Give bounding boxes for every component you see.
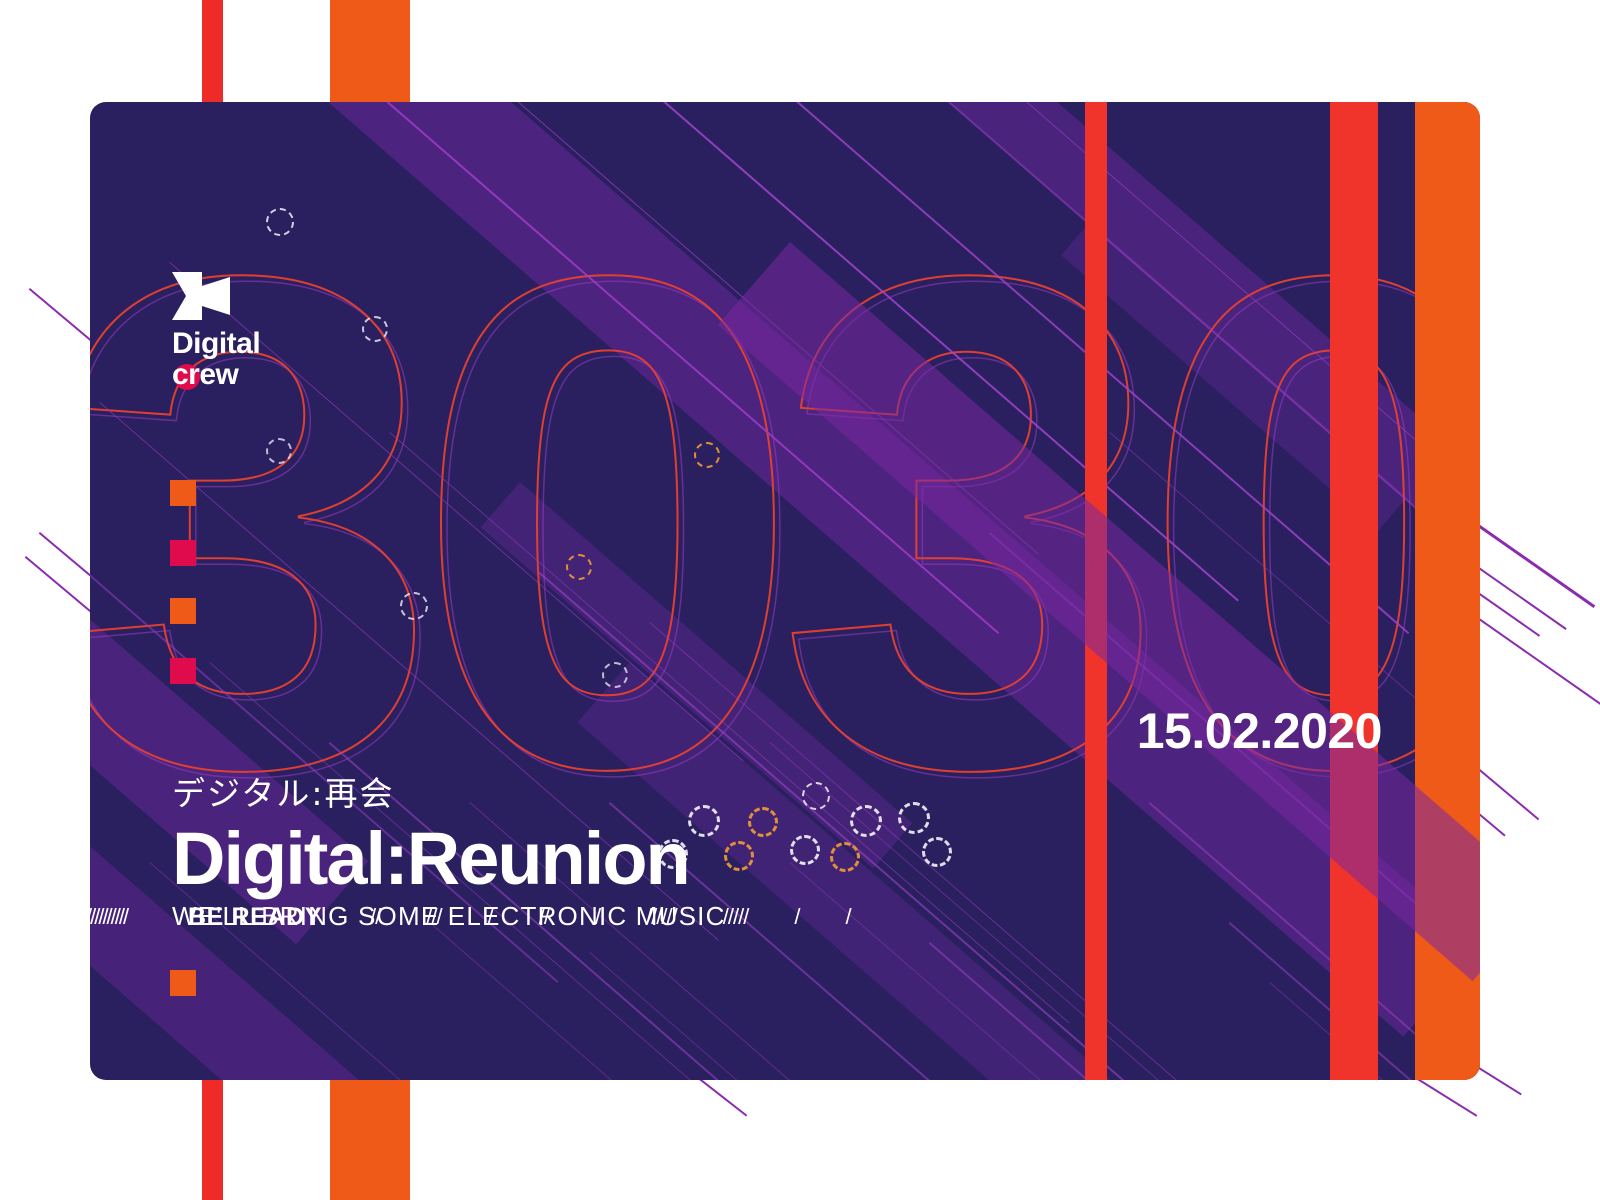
deco-circle [748, 807, 778, 837]
deco-circle [922, 837, 952, 867]
tick-mark: ///// [723, 904, 749, 930]
deco-circle [266, 208, 294, 236]
card-stripe-orange [1415, 102, 1480, 1080]
card-stripe-red-2 [1330, 102, 1378, 1080]
be-ready-row: ////////// BE READY // /// / // / //////… [90, 902, 1480, 932]
deco-circle [850, 805, 882, 837]
deco-circle [362, 316, 388, 342]
streak-line [1417, 1078, 1477, 1117]
brand-name-line2: crew [172, 359, 260, 390]
tick-mark: / [794, 904, 799, 930]
accent-square [170, 598, 196, 624]
accent-square [170, 970, 196, 996]
hairline [589, 952, 861, 1080]
be-ready-label: BE READY [188, 903, 322, 932]
deco-circle [266, 438, 292, 464]
deco-circle [566, 554, 592, 580]
brand-name-line1: Digital [172, 328, 260, 359]
tick-mark: // [370, 904, 380, 930]
brand-wordmark: Digital crew [172, 328, 260, 390]
tick-mark: / [488, 904, 493, 930]
hairline [929, 942, 1187, 1080]
poster-canvas: 3030 3030 [0, 0, 1600, 1200]
accent-square [170, 540, 196, 566]
background-number: 3030 [90, 202, 1480, 862]
deco-circle [830, 842, 860, 872]
accent-square [170, 480, 196, 506]
poster-card: 3030 3030 [90, 102, 1480, 1080]
tick-mark: // [539, 904, 549, 930]
tick-mark: /// [426, 904, 441, 930]
bowtie-mark-icon [172, 272, 230, 320]
tick-mark: ////// [646, 904, 677, 930]
deco-circle [602, 662, 628, 688]
deco-circle [400, 592, 428, 620]
tick-mark: / [845, 904, 850, 930]
deco-circle [724, 841, 754, 871]
tick-marks: // /// / // / ////// ///// / / [370, 904, 897, 930]
event-date: 15.02.2020 [1137, 702, 1382, 760]
deco-circle [802, 782, 830, 810]
deco-circle [694, 442, 720, 468]
brand-logo[interactable]: Digital crew [172, 272, 260, 390]
tick-mark: / [595, 904, 600, 930]
streak-line [699, 1078, 748, 1117]
hairline [429, 922, 732, 1080]
japanese-subtitle: デジタル:再会 [172, 767, 726, 815]
accent-square [170, 658, 196, 684]
event-title: Digital:Reunion [172, 819, 726, 899]
card-stripe-red-1 [1085, 102, 1107, 1080]
ready-prefix-ticks: ////////// [90, 904, 182, 930]
deco-circle [790, 835, 820, 865]
deco-circle [898, 802, 930, 834]
